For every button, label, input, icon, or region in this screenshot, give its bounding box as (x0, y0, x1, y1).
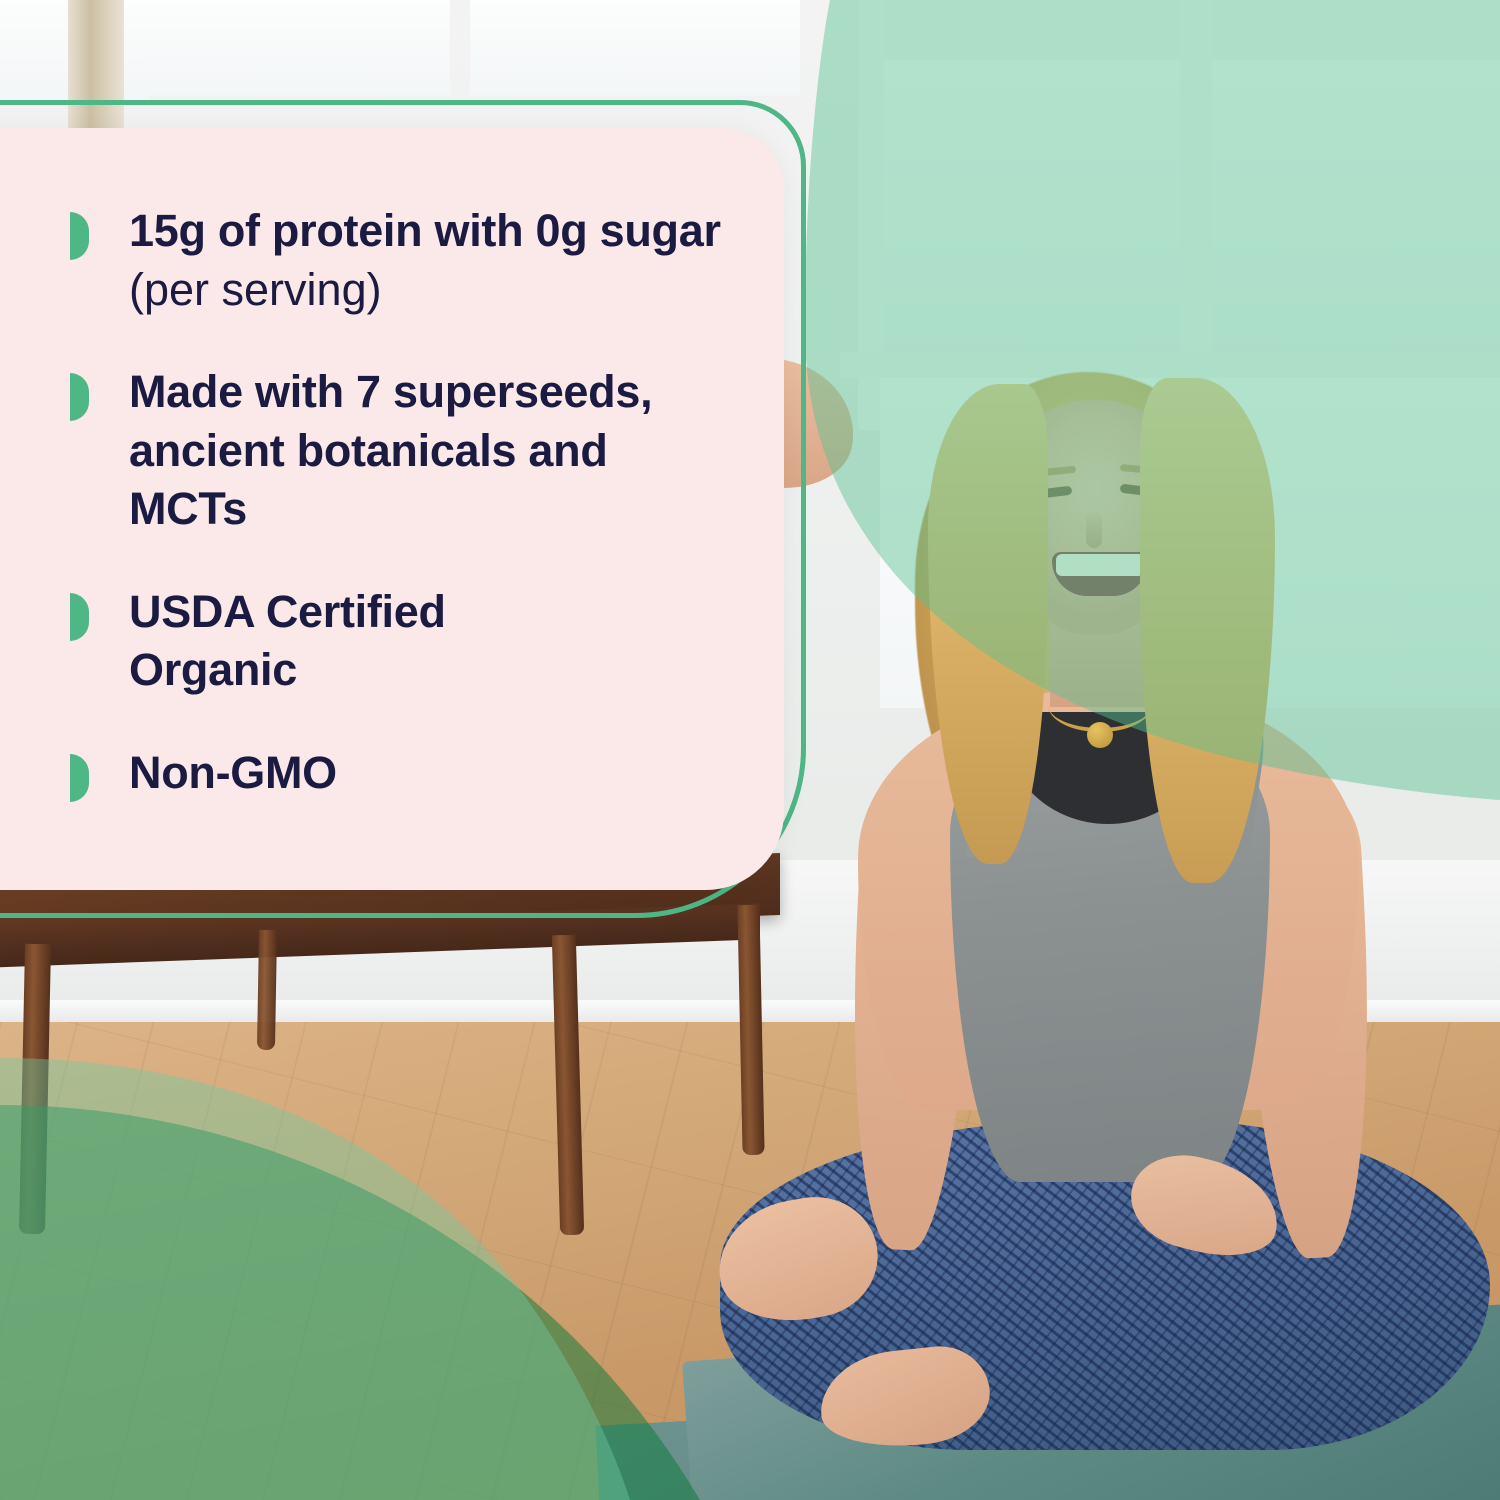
marketing-banner: 15g of protein with 0g sugar (per servin… (0, 0, 1500, 1500)
list-item: USDA Certified Organic (70, 583, 730, 700)
product-benefits-card: 15g of protein with 0g sugar (per servin… (0, 128, 784, 890)
list-item: 15g of protein with 0g sugar (per servin… (70, 202, 730, 319)
woman-seated-on-yoga-mat (700, 360, 1500, 1500)
necklace-pendant (1087, 722, 1113, 748)
half-circle-bullet-icon (70, 754, 89, 802)
list-item: Non-GMO (70, 744, 730, 803)
list-item-light-text: (per serving) (129, 264, 382, 315)
window-pane (470, 0, 800, 96)
teeth (1056, 554, 1144, 576)
list-item-text: Made with 7 superseeds, ancient botanica… (129, 363, 729, 539)
half-circle-bullet-icon (70, 593, 89, 641)
list-item-text: 15g of protein with 0g sugar (per servin… (129, 202, 729, 319)
nose (1086, 510, 1102, 548)
list-item-bold-text: Non-GMO (129, 747, 337, 798)
list-item-text: Non-GMO (129, 744, 337, 803)
list-item: Made with 7 superseeds, ancient botanica… (70, 363, 730, 539)
window-pane (150, 0, 450, 96)
list-item-text: USDA Certified Organic (129, 583, 529, 700)
window-pane (880, 60, 1180, 360)
table-leg (257, 930, 277, 1050)
list-item-bold-text: 15g of protein with 0g sugar (129, 205, 721, 256)
half-circle-bullet-icon (70, 373, 89, 421)
list-item-bold-text: Made with 7 superseeds, ancient botanica… (129, 366, 652, 534)
list-item-bold-text: USDA Certified Organic (129, 586, 446, 696)
half-circle-bullet-icon (70, 212, 89, 260)
benefits-list: 15g of protein with 0g sugar (per servin… (70, 202, 730, 802)
window-pane (1210, 60, 1500, 360)
